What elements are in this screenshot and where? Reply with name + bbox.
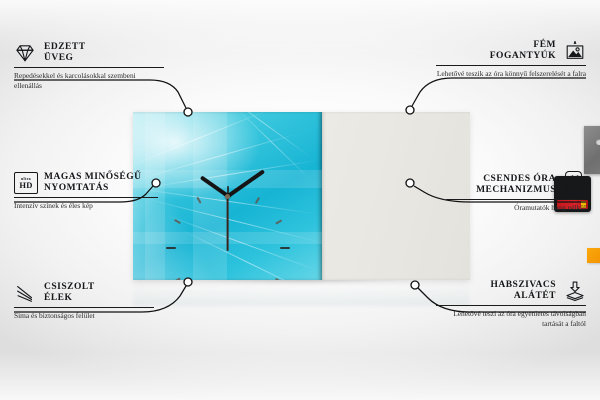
feature-silent-clock-mechanism[interactable]: CSENDES ÓRA MECHANIZMUS Óramutatók hang … bbox=[446, 174, 586, 213]
feature-subtitle: Intenzív színek és éles kép bbox=[14, 201, 158, 211]
clock-minute-hand bbox=[226, 169, 264, 197]
divider bbox=[436, 305, 586, 306]
clock-face bbox=[133, 112, 322, 280]
feature-polished-edges[interactable]: CSISZOLT ÉLEK Sima és biztonságos felüle… bbox=[14, 282, 154, 321]
glass-clock-front bbox=[133, 112, 322, 280]
metal-hanger bbox=[584, 126, 600, 174]
gear-icon bbox=[564, 174, 586, 196]
clock-hour-hand bbox=[199, 175, 228, 197]
foam-pad-arrow-icon bbox=[564, 280, 586, 302]
feature-title-line2: FOGANTYÚK bbox=[490, 51, 556, 61]
picture-hanger-icon bbox=[564, 40, 586, 62]
foam-pad bbox=[587, 248, 600, 263]
divider bbox=[14, 197, 158, 198]
feature-subtitle: Repedésekkel és karcolásokkal szembeni e… bbox=[14, 71, 164, 90]
feature-tempered-glass[interactable]: EDZETT ÜVEG Repedésekkel és karcolásokka… bbox=[14, 42, 164, 91]
feature-title-line1: EDZETT bbox=[44, 42, 86, 52]
feature-title-line2: ALÁTÉT bbox=[514, 291, 556, 301]
clock-center-cap bbox=[225, 194, 230, 199]
infographic-canvas: EDZETT ÜVEG Repedésekkel és karcolásokka… bbox=[0, 0, 600, 400]
divider bbox=[14, 67, 164, 68]
badge-main-label: HD bbox=[19, 181, 32, 190]
diamond-icon bbox=[14, 42, 36, 64]
feature-foam-pad[interactable]: HABSZIVACS ALÁTÉT Lehetővé teszi az óra … bbox=[436, 280, 586, 329]
feature-title-line2: ÜVEG bbox=[44, 53, 73, 63]
divider bbox=[14, 307, 154, 308]
feature-metal-handles[interactable]: FÉM FOGANTYÚK Lehetővé teszik az óra kön… bbox=[436, 40, 586, 79]
polished-edges-icon bbox=[14, 282, 36, 304]
feature-subtitle: Sima és biztonságos felület bbox=[14, 311, 154, 321]
product-reflection bbox=[133, 280, 470, 306]
clock-second-hand bbox=[227, 196, 229, 251]
feature-title-line2: NYOMTATÁS bbox=[44, 183, 109, 193]
feature-title-line1: CSISZOLT bbox=[44, 282, 95, 292]
product-image bbox=[133, 112, 470, 280]
feature-subtitle: Lehetővé teszik az óra könnyű felszerelé… bbox=[436, 69, 586, 79]
feature-title-line2: MECHANIZMUS bbox=[476, 185, 556, 195]
feature-title-line1: HABSZIVACS bbox=[490, 280, 556, 290]
ultra-hd-badge-icon: ultra HD bbox=[14, 172, 36, 194]
feature-title-line1: MAGAS MINŐSÉGŰ bbox=[44, 172, 142, 182]
divider bbox=[436, 65, 586, 66]
feature-title-line2: ÉLEK bbox=[44, 293, 72, 303]
feature-title-line1: FÉM bbox=[533, 40, 556, 50]
feature-subtitle: Lehetővé teszi az óra egyenletes távolsá… bbox=[436, 309, 586, 328]
feature-high-quality-print[interactable]: ultra HD MAGAS MINŐSÉGŰ NYOMTATÁS Intenz… bbox=[14, 172, 158, 211]
feature-title-line1: CSENDES ÓRA bbox=[483, 174, 556, 184]
feature-subtitle: Óramutatók hang nélkül bbox=[446, 203, 586, 213]
divider bbox=[446, 199, 586, 200]
